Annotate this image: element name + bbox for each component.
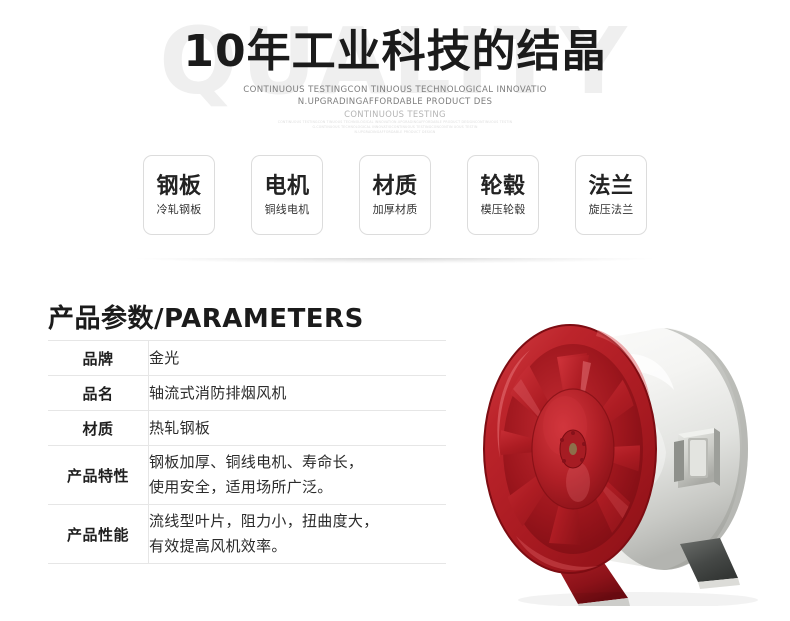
value-line: 有效提高风机效率。 xyxy=(149,534,446,559)
feature-badge-flange[interactable]: 法兰 旋压法兰 xyxy=(575,155,647,235)
value-line: 使用安全，适用场所广泛。 xyxy=(149,475,446,500)
table-row: 产品性能 流线型叶片，阻力小，扭曲度大， 有效提高风机效率。 xyxy=(48,505,446,564)
feature-badge-hub[interactable]: 轮毂 模压轮毂 xyxy=(467,155,539,235)
table-cell-value: 钢板加厚、铜线电机、寿命长， 使用安全，适用场所广泛。 xyxy=(149,446,447,505)
table-cell-key: 产品特性 xyxy=(48,446,149,505)
rear-foot xyxy=(680,538,738,582)
page-title: 10年工业科技的结晶 xyxy=(0,24,790,79)
product-detail-page: QUALITY 10年工业科技的结晶 CONTINUOUS TESTINGCON… xyxy=(0,0,790,621)
badge-title: 电机 xyxy=(264,174,309,200)
badge-subtitle: 铜线电机 xyxy=(265,204,310,216)
badge-title: 轮毂 xyxy=(480,174,525,200)
badge-title: 钢板 xyxy=(156,174,201,200)
fan-hub xyxy=(532,389,614,509)
badge-title: 材质 xyxy=(372,174,417,200)
value-line: 金光 xyxy=(149,346,446,371)
badge-subtitle: 旋压法兰 xyxy=(589,204,634,216)
micro-text-line-3: N.UPGRADINGAFFORDABLE PRODUCT DESIGN xyxy=(0,130,790,135)
section-title: 产品参数/PARAMETERS xyxy=(48,298,364,335)
header-banner: QUALITY 10年工业科技的结晶 CONTINUOUS TESTINGCON… xyxy=(0,0,790,262)
feature-badge-motor[interactable]: 电机 铜线电机 xyxy=(251,155,323,235)
table-cell-value: 轴流式消防排烟风机 xyxy=(149,376,447,411)
badge-subtitle: 加厚材质 xyxy=(373,204,418,216)
feature-badge-steel-plate[interactable]: 钢板 冷轧钢板 xyxy=(143,155,215,235)
table-row: 品牌 金光 xyxy=(48,341,446,376)
table-cell-value: 流线型叶片，阻力小，扭曲度大， 有效提高风机效率。 xyxy=(149,505,447,564)
value-line: 热轧钢板 xyxy=(149,416,446,441)
table-row: 材质 热轧钢板 xyxy=(48,411,446,446)
table-cell-key: 品名 xyxy=(48,376,149,411)
table-cell-key: 品牌 xyxy=(48,341,149,376)
table-cell-value: 热轧钢板 xyxy=(149,411,447,446)
badge-subtitle: 模压轮毂 xyxy=(481,204,526,216)
feature-badge-material[interactable]: 材质 加厚材质 xyxy=(359,155,431,235)
parameters-table: 品牌 金光 品名 轴流式消防排烟风机 材质 热轧钢板 xyxy=(48,340,446,564)
value-line: 轴流式消防排烟风机 xyxy=(149,381,446,406)
table-cell-key: 产品性能 xyxy=(48,505,149,564)
junction-box-icon xyxy=(674,428,720,488)
badge-title: 法兰 xyxy=(588,174,633,200)
value-line: 流线型叶片，阻力小，扭曲度大， xyxy=(149,509,446,534)
table-row: 品名 轴流式消防排烟风机 xyxy=(48,376,446,411)
table-cell-key: 材质 xyxy=(48,411,149,446)
axial-fan-illustration xyxy=(452,286,790,606)
table-cell-value: 金光 xyxy=(149,341,447,376)
badge-subtitle: 冷轧钢板 xyxy=(157,204,202,216)
value-line: 钢板加厚、铜线电机、寿命长， xyxy=(149,450,446,475)
feature-badge-list: 钢板 冷轧钢板 电机 铜线电机 材质 加厚材质 轮毂 模压轮毂 法兰 旋压法兰 xyxy=(0,155,790,235)
section-divider xyxy=(0,258,790,267)
product-image xyxy=(452,286,790,606)
table-row: 产品特性 钢板加厚、铜线电机、寿命长， 使用安全，适用场所广泛。 xyxy=(48,446,446,505)
